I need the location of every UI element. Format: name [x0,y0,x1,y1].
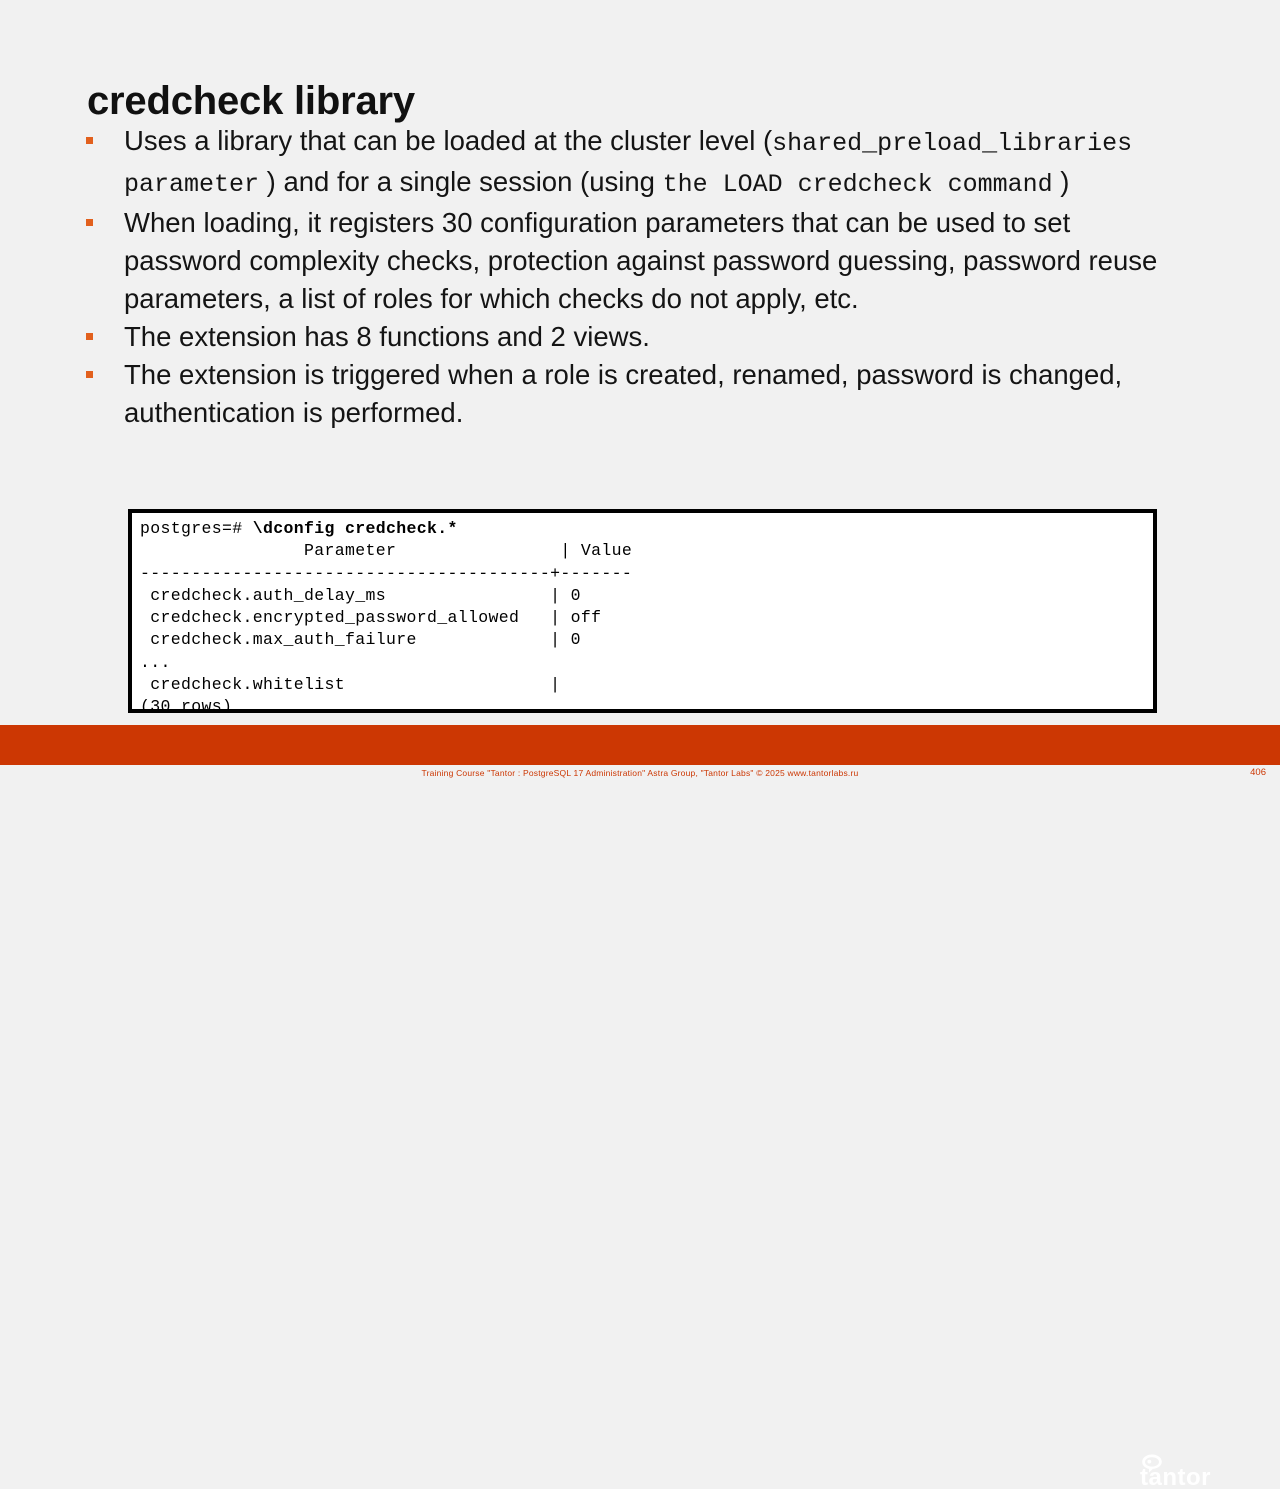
text-run: When loading, it registers 30 configurat… [124,207,1157,314]
terminal-text: postgres=# \dconfig credcheck.* Paramete… [132,513,1153,713]
text-run: The extension has 8 functions and 2 view… [124,321,650,352]
bullet-marker-icon [86,371,93,378]
bullet-text-loading-level: Uses a library that can be loaded at the… [124,125,1132,197]
bullet-marker-icon [86,333,93,340]
terminal-command: \dconfig credcheck.* [253,519,458,538]
slide-root: credcheck library Uses a library that ca… [0,0,1280,781]
footer-note: Training Course "Tantor : PostgreSQL 17 … [0,765,1280,781]
page-title: credcheck library [87,79,415,123]
footer-bar: tantor [0,725,1280,765]
list-item: Uses a library that can be loaded at the… [84,122,1194,204]
bullet-marker-icon [86,137,93,144]
page-number: 406 [1250,765,1266,781]
bullet-text-configuration-parameters: When loading, it registers 30 configurat… [124,207,1157,314]
bullet-list: Uses a library that can be loaded at the… [84,122,1194,432]
terminal-output-block: postgres=# \dconfig credcheck.* Paramete… [128,509,1157,713]
code-run: the LOAD credcheck command [663,170,1053,199]
bullet-marker-icon [86,219,93,226]
list-item: The extension has 8 functions and 2 view… [84,318,1194,356]
terminal-prompt: postgres=# [140,519,253,538]
text-run: The extension is triggered when a role i… [124,359,1122,428]
text-run: Uses a library that can be loaded at the… [124,125,772,156]
svg-text:tantor: tantor [1140,1464,1211,1489]
terminal-table: Parameter | Value ----------------------… [140,541,632,713]
text-run: ) [1053,166,1070,197]
tantor-logo: tantor [1138,1452,1262,1489]
bullet-text-functions-views: The extension has 8 functions and 2 view… [124,321,650,352]
text-run: ) and for a single session (using [259,166,663,197]
list-item: When loading, it registers 30 configurat… [84,204,1194,318]
bullet-text-triggers: The extension is triggered when a role i… [124,359,1122,428]
list-item: The extension is triggered when a role i… [84,356,1194,432]
